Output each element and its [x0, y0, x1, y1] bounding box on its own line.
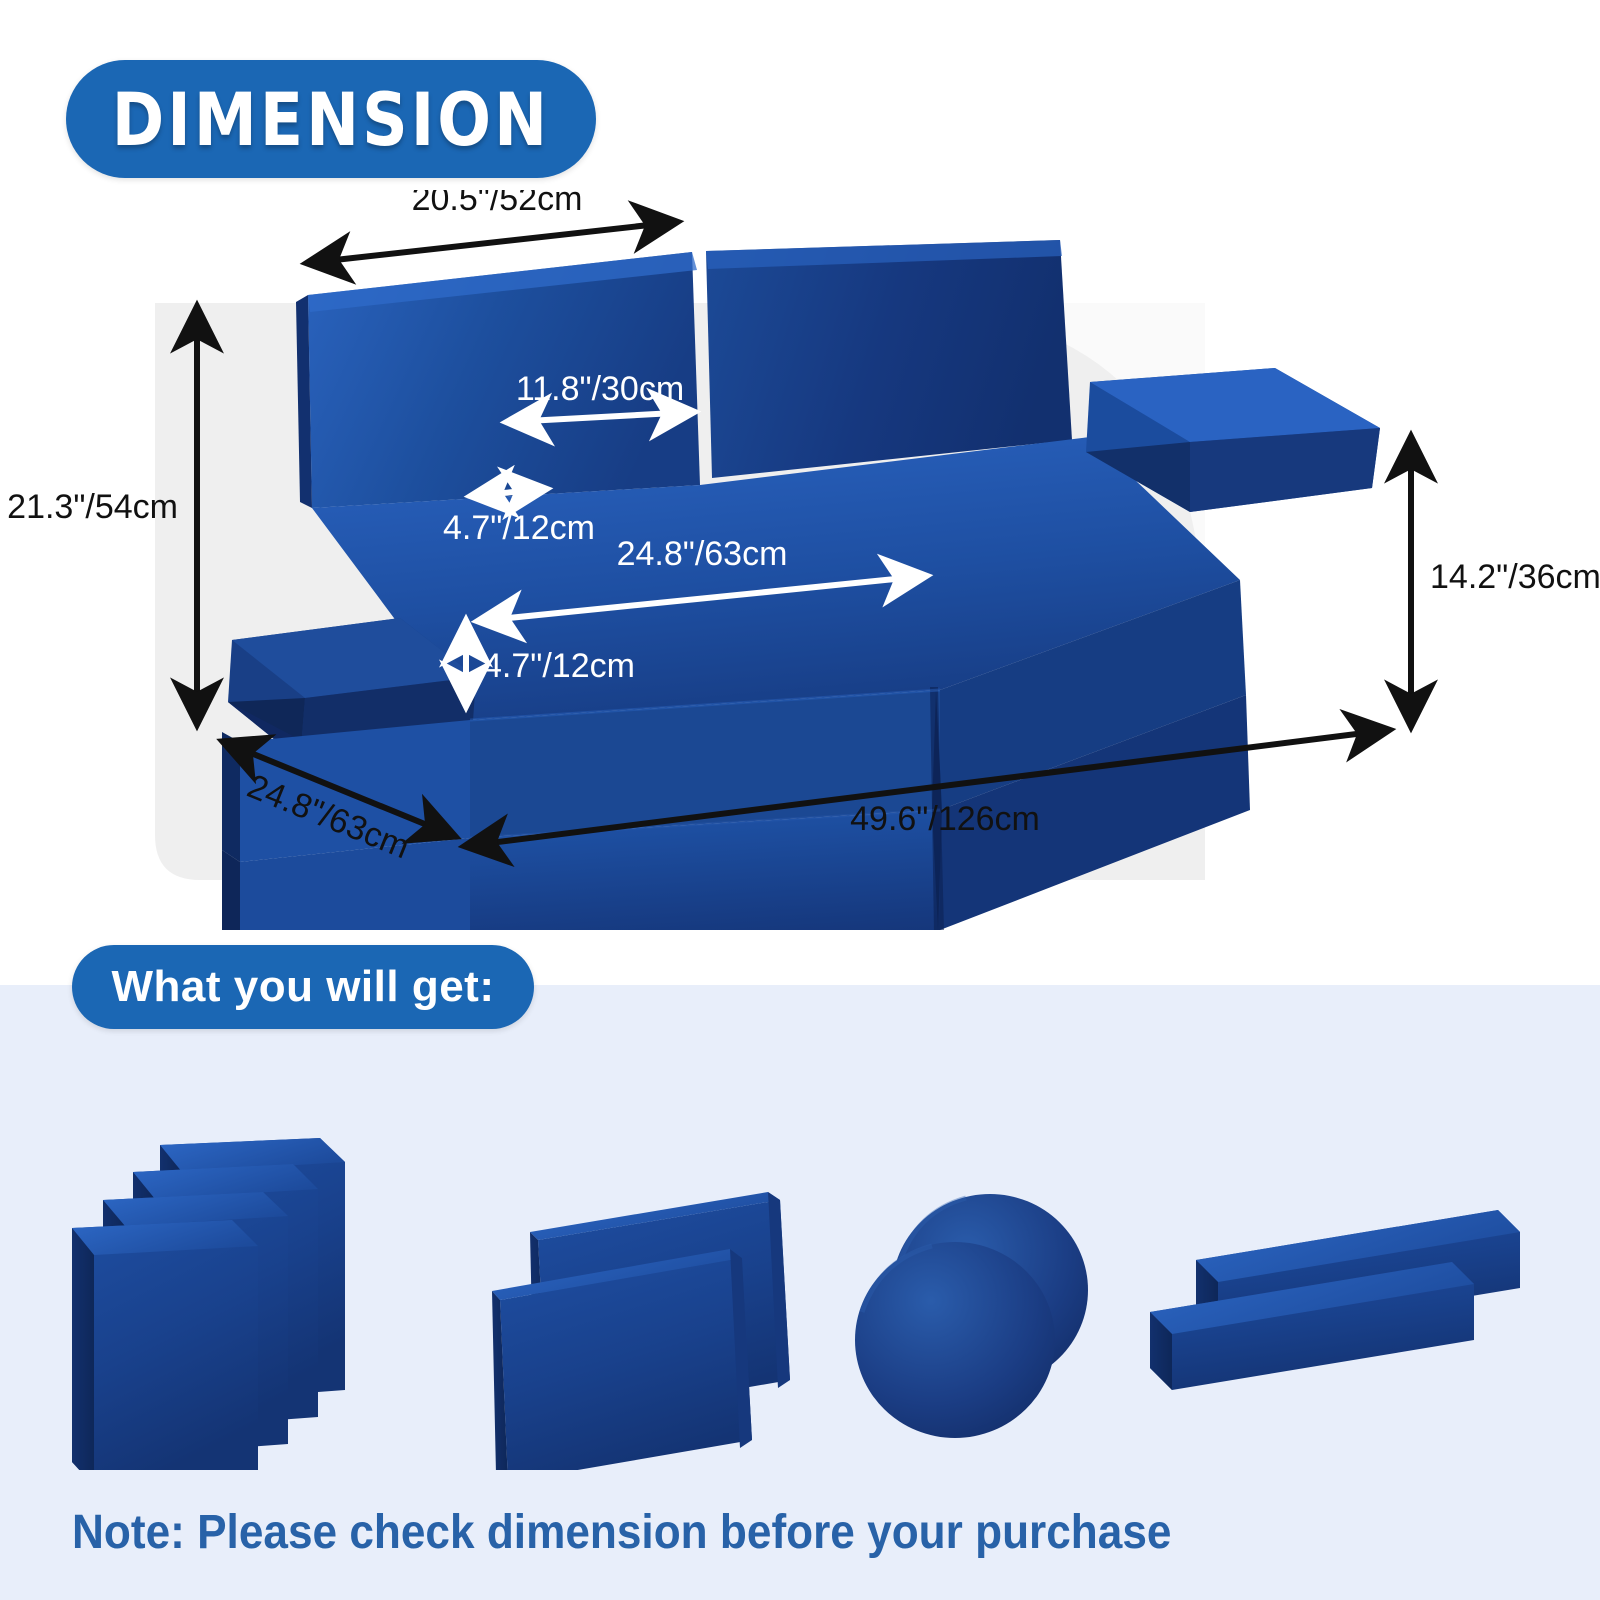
- purchase-note: Note: Please check dimension before your…: [72, 1505, 1360, 1560]
- dimension-banner: DIMENSION: [66, 60, 596, 178]
- dim-cushion-height-label: 4.7"/12cm: [483, 647, 635, 685]
- dim-seat-height: 14.2"/36cm: [1411, 438, 1600, 725]
- dimension-banner-label: DIMENSION: [112, 76, 550, 162]
- what-you-get-label: What you will get:: [112, 962, 495, 1012]
- dim-arm-thickness-label: 4.7"/12cm: [443, 509, 595, 547]
- part-square-cushions: [72, 1138, 345, 1470]
- what-you-get-banner: What you will get:: [72, 945, 534, 1029]
- dim-seat-depth-label: 24.8"/63cm: [617, 535, 788, 573]
- dim-pillow-diameter-label: 11.8"/30cm: [516, 370, 684, 408]
- part-wedge-backs: [492, 1192, 790, 1470]
- dim-back-width: 20.5"/52cm: [308, 190, 676, 263]
- dim-base-width-label: 49.6"/126cm: [850, 800, 1040, 838]
- infographic-page: DIMENSION: [0, 0, 1600, 1600]
- included-parts-illustration: [0, 1050, 1600, 1470]
- part-round-pillows: [855, 1194, 1088, 1438]
- dim-back-width-label: 20.5"/52cm: [412, 190, 583, 218]
- dim-total-height-label: 21.3"/54cm: [7, 488, 178, 526]
- dim-seat-height-label: 14.2"/36cm: [1430, 558, 1600, 596]
- part-bolster-bars: [1150, 1210, 1520, 1390]
- sofa-dimension-diagram: 20.5"/52cm 21.3"/54cm 11.8"/30cm 4.7"/12…: [0, 190, 1600, 930]
